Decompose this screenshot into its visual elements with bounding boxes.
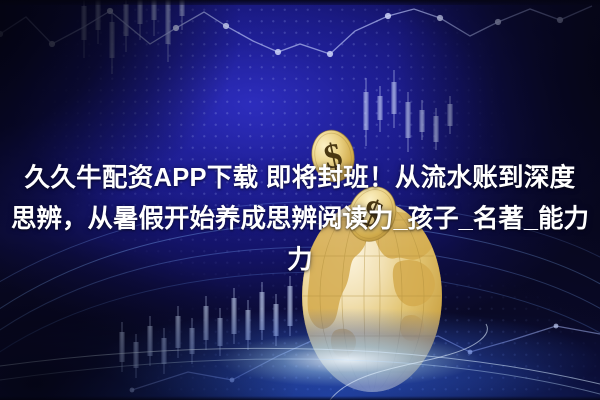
headline-text: 久久牛配资APP下载 即将封班！从流水账到深度 思辨，从暑假开始养成思辨阅读力_… (0, 158, 600, 281)
headline-line-3: 力 (6, 240, 594, 281)
headline-line-2: 思辨，从暑假开始养成思辨阅读力_孩子_名著_能力 (6, 199, 594, 240)
banner-image: $$ 久久牛配资APP下载 即将封班！从流水账到深度 思辨，从暑假开始养成思辨阅… (0, 0, 600, 400)
headline-line-1: 久久牛配资APP下载 即将封班！从流水账到深度 (6, 158, 594, 199)
